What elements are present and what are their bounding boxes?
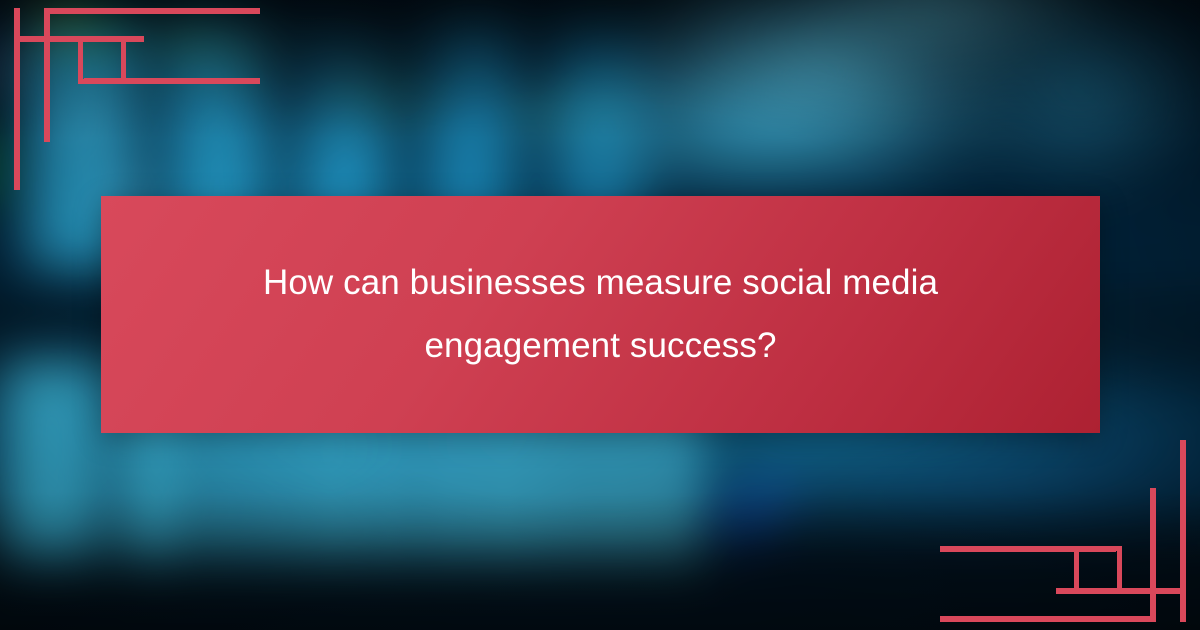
question-panel: How can businesses measure social media …: [101, 196, 1100, 433]
question-card: How can businesses measure social media …: [0, 0, 1200, 630]
question-title: How can businesses measure social media …: [221, 252, 981, 377]
